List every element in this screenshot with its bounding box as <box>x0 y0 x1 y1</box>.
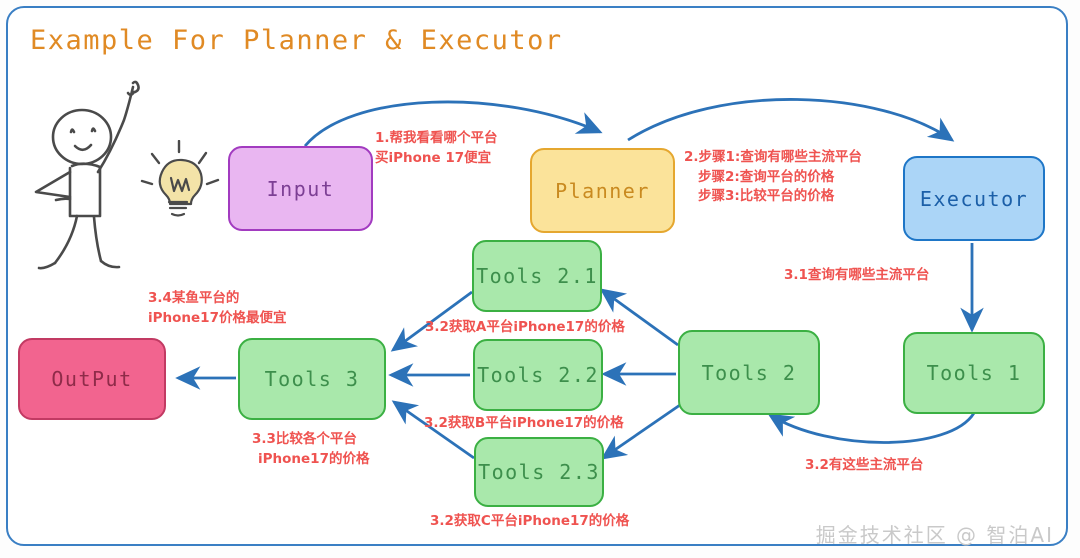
annotation-step-3-4-line-1: 3.4某鱼平台的 <box>148 289 286 309</box>
annotation-step-1-line-2: 买iPhone 17便宜 <box>375 149 498 169</box>
node-tools-1-label: Tools 1 <box>927 361 1022 385</box>
annotation-step-3-3-line-1: 3.3比较各个平台 <box>252 430 369 450</box>
annotation-step-2-line-2: 步骤2:查询平台的价格 <box>684 168 862 188</box>
node-executor-label: Executor <box>920 187 1028 211</box>
page-title: Example For Planner & Executor <box>30 25 563 56</box>
annotation-step-3-3: 3.3比较各个平台 iPhone17的价格 <box>252 430 369 469</box>
node-tools-3[interactable]: Tools 3 <box>238 338 386 420</box>
node-executor[interactable]: Executor <box>903 156 1045 241</box>
annotation-step-3-2-a: 3.2获取A平台iPhone17的价格 <box>425 318 625 338</box>
annotation-step-2-line-3: 步骤3:比较平台的价格 <box>684 187 862 207</box>
node-tools-1[interactable]: Tools 1 <box>903 332 1045 414</box>
annotation-step-3-1: 3.1查询有哪些主流平台 <box>784 266 929 286</box>
annotation-step-3-2-main: 3.2有这些主流平台 <box>805 456 923 476</box>
diagram-canvas: Example For Planner & Executor <box>0 0 1080 558</box>
node-tools-2-1[interactable]: Tools 2.1 <box>472 240 602 312</box>
node-tools-2-1-label: Tools 2.1 <box>476 264 598 288</box>
annotation-step-3-4: 3.4某鱼平台的 iPhone17价格最便宜 <box>148 289 286 328</box>
node-input-label: Input <box>267 177 335 201</box>
node-tools-2[interactable]: Tools 2 <box>678 330 820 415</box>
lightbulb-idea-icon <box>140 140 220 230</box>
annotation-step-3-2-c: 3.2获取C平台iPhone17的价格 <box>430 512 629 532</box>
node-output-label: OutPut <box>51 367 132 391</box>
node-tools-2-2[interactable]: Tools 2.2 <box>473 339 603 411</box>
node-planner[interactable]: Planner <box>530 148 675 233</box>
node-tools-2-label: Tools 2 <box>702 361 797 385</box>
node-planner-label: Planner <box>555 179 650 203</box>
watermark: 掘金技术社区 @ 智泊AI <box>816 519 1054 548</box>
node-tools-2-3-label: Tools 2.3 <box>478 460 600 484</box>
annotation-step-3-3-line-2: iPhone17的价格 <box>252 450 369 470</box>
annotation-step-1-line-1: 1.帮我看看哪个平台 <box>375 129 498 149</box>
node-tools-2-2-label: Tools 2.2 <box>477 363 599 387</box>
node-tools-2-3[interactable]: Tools 2.3 <box>474 437 604 507</box>
annotation-step-2: 2.步骤1:查询有哪些主流平台 步骤2:查询平台的价格 步骤3:比较平台的价格 <box>684 148 862 207</box>
annotation-step-3-4-line-2: iPhone17价格最便宜 <box>148 309 286 329</box>
node-input[interactable]: Input <box>228 146 373 231</box>
annotation-step-2-line-1: 2.步骤1:查询有哪些主流平台 <box>684 148 862 168</box>
annotation-step-1: 1.帮我看看哪个平台 买iPhone 17便宜 <box>375 129 498 168</box>
annotation-step-3-2-b: 3.2获取B平台iPhone17的价格 <box>424 414 624 434</box>
node-tools-3-label: Tools 3 <box>265 367 360 391</box>
node-output[interactable]: OutPut <box>18 338 166 420</box>
